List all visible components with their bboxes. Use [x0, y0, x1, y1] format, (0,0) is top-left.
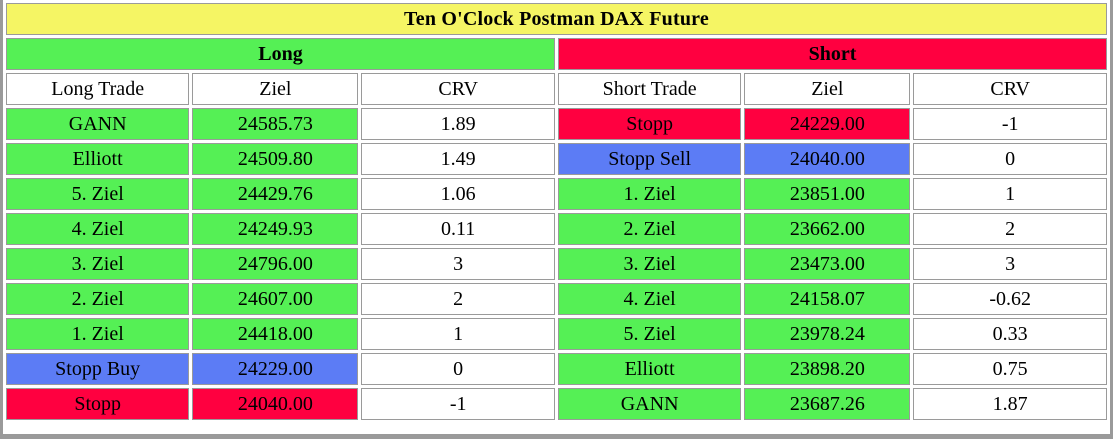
short-trade-cell: Stopp Sell	[558, 143, 741, 175]
long-crv-cell: 1	[361, 318, 555, 350]
long-ziel-cell: 24249.93	[192, 213, 358, 245]
short-ziel-cell: 23851.00	[744, 178, 910, 210]
long-trade-cell: 3. Ziel	[6, 248, 189, 280]
table-row: 5. Ziel24429.761.061. Ziel23851.001	[6, 178, 1107, 210]
long-ziel-cell: 24585.73	[192, 108, 358, 140]
page-title: Ten O'Clock Postman DAX Future	[6, 3, 1107, 35]
column-header-long-ziel: Ziel	[192, 73, 358, 105]
long-trade-cell: 5. Ziel	[6, 178, 189, 210]
long-trade-cell: Elliott	[6, 143, 189, 175]
short-crv-cell: 1	[913, 178, 1107, 210]
column-header-short-trade: Short Trade	[558, 73, 741, 105]
long-ziel-cell: 24229.00	[192, 353, 358, 385]
short-trade-cell: 3. Ziel	[558, 248, 741, 280]
short-crv-cell: 0	[913, 143, 1107, 175]
short-ziel-cell: 24158.07	[744, 283, 910, 315]
short-crv-cell: 0.33	[913, 318, 1107, 350]
long-crv-cell: 1.89	[361, 108, 555, 140]
long-ziel-cell: 24607.00	[192, 283, 358, 315]
table-row: 3. Ziel24796.0033. Ziel23473.003	[6, 248, 1107, 280]
short-crv-cell: -1	[913, 108, 1107, 140]
column-header-row: Long Trade Ziel CRV Short Trade Ziel CRV	[6, 73, 1107, 105]
table-row: 4. Ziel24249.930.112. Ziel23662.002	[6, 213, 1107, 245]
long-trade-cell: 4. Ziel	[6, 213, 189, 245]
long-crv-cell: 2	[361, 283, 555, 315]
short-crv-cell: 3	[913, 248, 1107, 280]
long-crv-cell: 0.11	[361, 213, 555, 245]
short-ziel-cell: 23978.24	[744, 318, 910, 350]
short-crv-cell: -0.62	[913, 283, 1107, 315]
short-ziel-cell: 23687.26	[744, 388, 910, 420]
long-trade-cell: 2. Ziel	[6, 283, 189, 315]
table-row: 2. Ziel24607.0024. Ziel24158.07-0.62	[6, 283, 1107, 315]
long-crv-cell: 1.49	[361, 143, 555, 175]
short-trade-cell: Elliott	[558, 353, 741, 385]
long-crv-cell: -1	[361, 388, 555, 420]
short-trade-cell: 2. Ziel	[558, 213, 741, 245]
section-header-long: Long	[6, 38, 555, 70]
long-ziel-cell: 24429.76	[192, 178, 358, 210]
short-crv-cell: 2	[913, 213, 1107, 245]
signal-table: Ten O'Clock Postman DAX Future Long Shor…	[3, 0, 1110, 423]
signal-table-body: Ten O'Clock Postman DAX Future Long Shor…	[6, 3, 1107, 420]
long-ziel-cell: 24509.80	[192, 143, 358, 175]
title-row: Ten O'Clock Postman DAX Future	[6, 3, 1107, 35]
long-trade-cell: Stopp Buy	[6, 353, 189, 385]
table-row: Elliott24509.801.49Stopp Sell24040.000	[6, 143, 1107, 175]
short-trade-cell: 5. Ziel	[558, 318, 741, 350]
long-trade-cell: GANN	[6, 108, 189, 140]
long-trade-cell: 1. Ziel	[6, 318, 189, 350]
long-crv-cell: 0	[361, 353, 555, 385]
short-trade-cell: GANN	[558, 388, 741, 420]
long-trade-cell: Stopp	[6, 388, 189, 420]
short-crv-cell: 1.87	[913, 388, 1107, 420]
table-row: GANN24585.731.89Stopp24229.00-1	[6, 108, 1107, 140]
column-header-long-crv: CRV	[361, 73, 555, 105]
short-crv-cell: 0.75	[913, 353, 1107, 385]
long-crv-cell: 1.06	[361, 178, 555, 210]
short-trade-cell: 1. Ziel	[558, 178, 741, 210]
short-ziel-cell: 24229.00	[744, 108, 910, 140]
long-ziel-cell: 24796.00	[192, 248, 358, 280]
column-header-long-trade: Long Trade	[6, 73, 189, 105]
short-ziel-cell: 24040.00	[744, 143, 910, 175]
short-trade-cell: Stopp	[558, 108, 741, 140]
section-band-row: Long Short	[6, 38, 1107, 70]
short-ziel-cell: 23473.00	[744, 248, 910, 280]
long-ziel-cell: 24418.00	[192, 318, 358, 350]
trading-signal-table-page: Ten O'Clock Postman DAX Future Long Shor…	[0, 0, 1113, 439]
short-trade-cell: 4. Ziel	[558, 283, 741, 315]
short-ziel-cell: 23662.00	[744, 213, 910, 245]
column-header-short-ziel: Ziel	[744, 73, 910, 105]
short-ziel-cell: 23898.20	[744, 353, 910, 385]
table-row: 1. Ziel24418.0015. Ziel23978.240.33	[6, 318, 1107, 350]
long-crv-cell: 3	[361, 248, 555, 280]
section-header-short: Short	[558, 38, 1107, 70]
table-row: Stopp24040.00-1GANN23687.261.87	[6, 388, 1107, 420]
long-ziel-cell: 24040.00	[192, 388, 358, 420]
table-row: Stopp Buy24229.000Elliott23898.200.75	[6, 353, 1107, 385]
column-header-short-crv: CRV	[913, 73, 1107, 105]
